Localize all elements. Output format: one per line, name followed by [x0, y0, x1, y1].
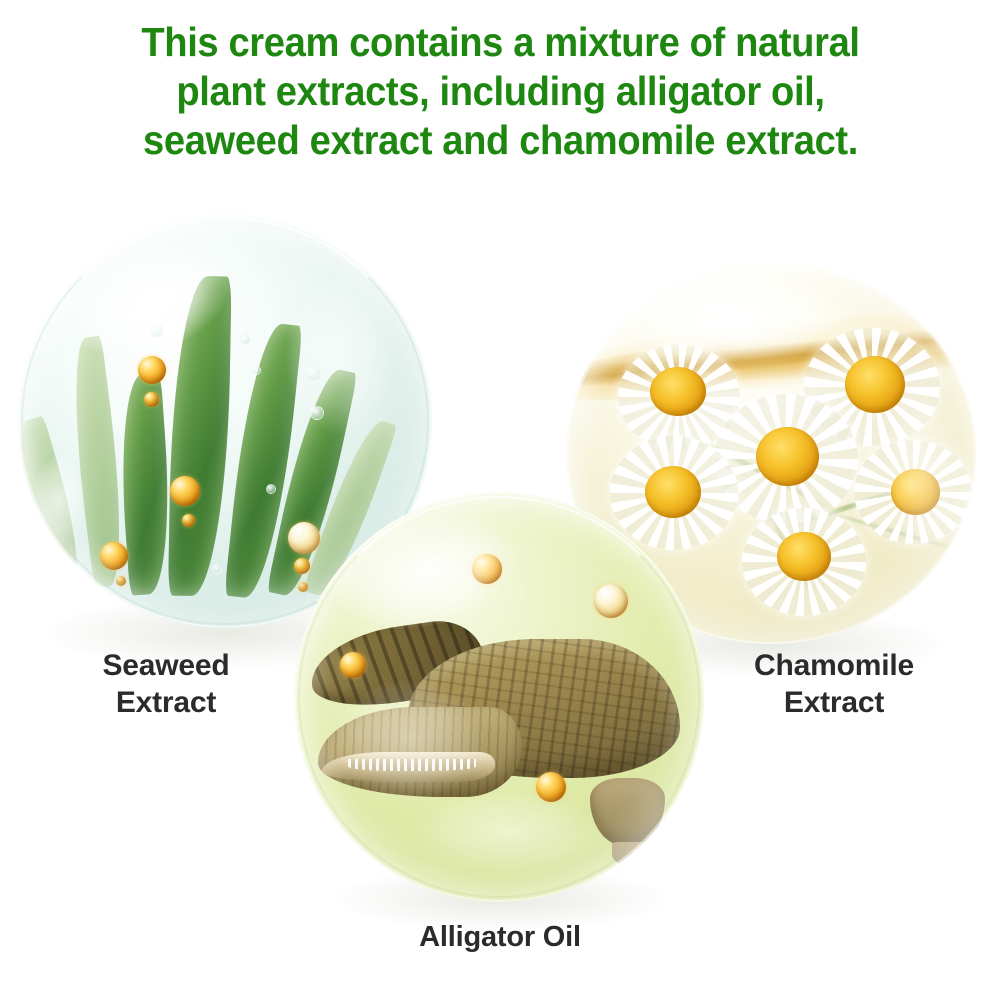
- flower-core: [891, 469, 941, 515]
- flower-core: [645, 466, 701, 518]
- label-seaweed-extract: Seaweed Extract: [36, 648, 296, 721]
- label-chamomile-extract: Chamomile Extract: [700, 648, 968, 721]
- crocodile-illustration: [310, 627, 687, 816]
- oil-bubble: [340, 652, 366, 678]
- crocodile-teeth: [348, 759, 476, 770]
- alligator-oil-sphere[interactable]: [294, 492, 704, 902]
- chamomile-flower: [610, 436, 738, 550]
- oil-bubble: [298, 582, 308, 592]
- water-droplet: [266, 484, 276, 494]
- crocodile-leg: [590, 778, 665, 846]
- oil-bubble: [294, 558, 310, 574]
- oil-bubble: [116, 576, 126, 586]
- water-droplet: [240, 334, 251, 345]
- oil-bubble: [144, 392, 159, 407]
- flower-core: [650, 367, 706, 416]
- oil-bubble: [594, 584, 628, 618]
- oil-bubble: [100, 542, 128, 570]
- chamomile-flower: [742, 508, 866, 616]
- label-alligator-oil: Alligator Oil: [330, 920, 670, 955]
- oil-bubble: [536, 772, 566, 802]
- seaweed-frond: [168, 276, 232, 597]
- oil-bubble: [288, 522, 320, 554]
- page-title: This cream contains a mixture of natural…: [35, 18, 966, 165]
- oil-bubble: [138, 356, 166, 384]
- water-droplet: [212, 564, 222, 574]
- water-droplet: [310, 406, 324, 420]
- crocodile-claw: [612, 842, 661, 867]
- water-droplet: [306, 366, 322, 382]
- oil-bubble: [472, 554, 502, 584]
- chamomile-flower: [854, 440, 972, 544]
- water-droplet: [252, 366, 261, 375]
- water-droplet: [150, 324, 164, 338]
- flower-core: [756, 427, 819, 487]
- oil-bubble: [182, 514, 195, 527]
- poster-canvas: This cream contains a mixture of natural…: [0, 0, 1001, 1000]
- oil-bubble: [170, 476, 200, 506]
